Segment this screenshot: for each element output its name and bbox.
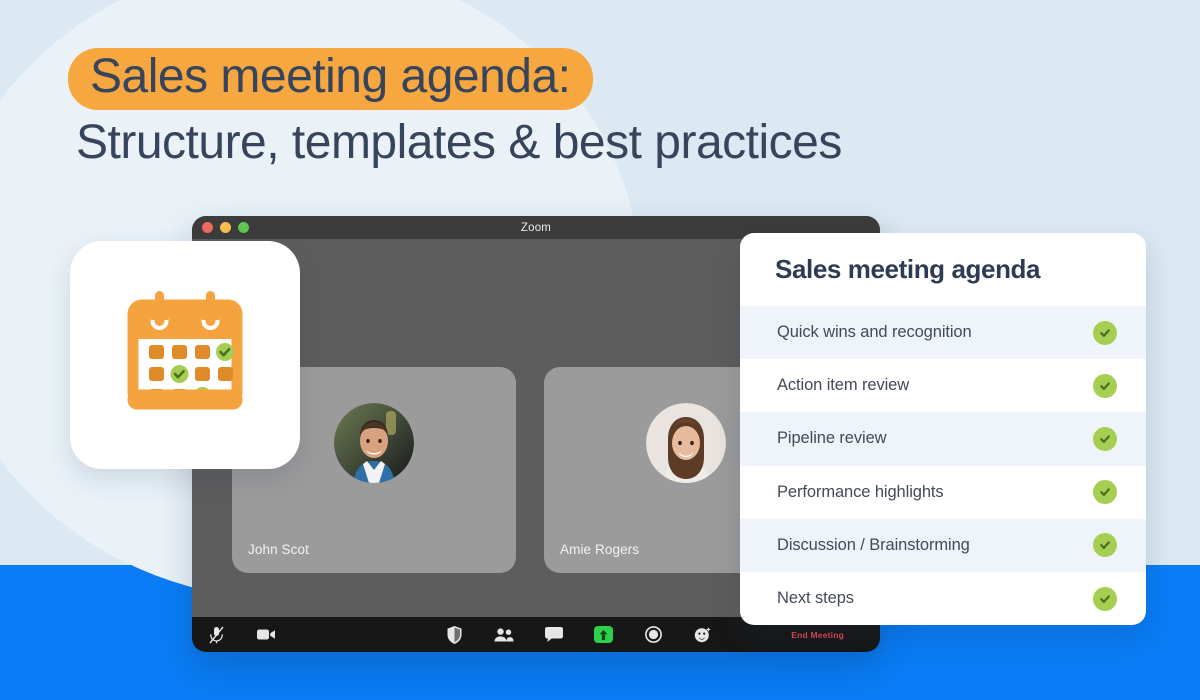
video-camera-icon[interactable] [256,625,276,645]
reactions-icon[interactable] [693,625,713,645]
agenda-title: Sales meeting agenda [775,254,1040,285]
toolbar-left-group [206,625,276,645]
check-icon[interactable] [1093,374,1117,398]
participants-icon[interactable] [494,625,514,645]
check-icon[interactable] [1093,533,1117,557]
calendar-card [70,241,300,469]
title-line-2: Structure, templates & best practices [76,116,842,169]
agenda-item-label: Next steps [777,589,854,608]
agenda-header: Sales meeting agenda [740,233,1146,306]
window-controls[interactable] [202,216,249,239]
agenda-list: Quick wins and recognitionAction item re… [740,306,1146,625]
record-icon[interactable] [643,625,663,645]
title-subline: Structure, templates & best practices [68,118,1068,168]
end-meeting-button[interactable]: End Meeting [791,630,844,640]
window-title: Zoom [521,222,551,234]
check-icon[interactable] [1093,480,1117,504]
avatar [334,403,414,483]
poster-canvas: Sales meeting agenda: Structure, templat… [0,0,1200,700]
check-icon[interactable] [1093,587,1117,611]
avatar [646,403,726,483]
minimize-button[interactable] [220,222,231,233]
agenda-item-label: Pipeline review [777,429,886,448]
chat-bubble-icon[interactable] [544,625,564,645]
shield-security-icon[interactable] [444,625,464,645]
title-highlight-line: Sales meeting agenda: [68,48,593,110]
participant-name: John Scot [248,542,309,557]
agenda-row[interactable]: Discussion / Brainstorming [740,519,1146,572]
close-button[interactable] [202,222,213,233]
agenda-item-label: Performance highlights [777,483,944,502]
agenda-card: Sales meeting agenda Quick wins and reco… [740,233,1146,625]
share-screen-icon[interactable] [594,626,613,643]
title-line-1: Sales meeting agenda: [90,50,571,103]
agenda-row[interactable]: Next steps [740,572,1146,625]
calendar-icon [115,283,255,428]
agenda-item-label: Discussion / Brainstorming [777,536,970,555]
maximize-button[interactable] [238,222,249,233]
agenda-row[interactable]: Quick wins and recognition [740,306,1146,359]
agenda-row[interactable]: Performance highlights [740,466,1146,519]
agenda-row[interactable]: Pipeline review [740,412,1146,465]
agenda-item-label: Quick wins and recognition [777,323,972,342]
page-title: Sales meeting agenda: Structure, templat… [68,48,1068,169]
check-icon[interactable] [1093,321,1117,345]
agenda-row[interactable]: Action item review [740,359,1146,412]
microphone-muted-icon[interactable] [206,625,226,645]
agenda-item-label: Action item review [777,376,909,395]
participant-name: Amie Rogers [560,542,639,557]
toolbar-center-group [444,625,713,645]
check-icon[interactable] [1093,427,1117,451]
